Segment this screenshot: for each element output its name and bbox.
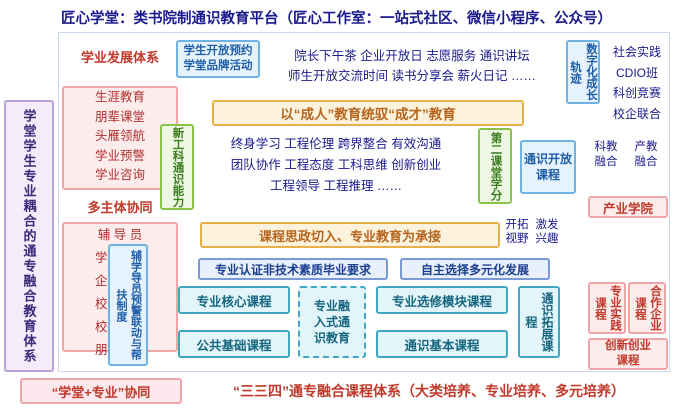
competency-word-grid: 终身学习 工程伦理 跨界整合 有效沟通 团队协作 工程态度 工科思维 创新创业 … bbox=[200, 134, 472, 210]
sizheng-banner: 课程思政切入、专业教育为承接 bbox=[200, 222, 500, 248]
chanjiao-ronghe-line1: 产教 bbox=[628, 140, 664, 155]
innovation-line2: 课程 bbox=[605, 354, 651, 369]
partner-enterprise-course-label: 合作企业课程 bbox=[632, 284, 662, 332]
xuetang-zhuanye-synergy-box: “学堂+专业”协同 bbox=[20, 378, 182, 404]
page-title: 匠心学堂：类书院制通识教育平台（匠心工作室：一站式社区、微信小程序、公众号） bbox=[0, 4, 673, 30]
chanjiao-ronghe-line2: 融合 bbox=[628, 155, 664, 170]
diagram-root: 匠心学堂：类书院制通识教育平台（匠心工作室：一站式社区、微信小程序、公众号） 学… bbox=[0, 0, 673, 410]
right-top-item: CDIO班 bbox=[604, 63, 670, 84]
student-brand-activity-box: 学生开放预约 学堂品牌活动 bbox=[176, 40, 260, 78]
industry-college-box: 产业学院 bbox=[588, 196, 668, 218]
elective-module-course-box: 专业选修模块课程 bbox=[376, 286, 508, 314]
competency-row: 工程领导 工程推理 …… bbox=[200, 176, 472, 197]
bottom-title: “三三四”通专融合课程体系（大类培养、专业培养、多元培养） bbox=[186, 378, 672, 404]
general-open-course-label: 通识开放课程 bbox=[522, 151, 574, 183]
digital-growth-track-label: 数字化成长轨迹 bbox=[567, 42, 599, 102]
second-classroom-credit-box: 第二课堂学分 bbox=[478, 128, 512, 204]
chanjiao-ronghe-label: 产教 融合 bbox=[628, 140, 664, 176]
kaituo-line1: 开拓 bbox=[502, 218, 532, 232]
keji-ronghe-line1: 科教 bbox=[588, 140, 624, 155]
chengren-banner: 以“成人”教育统驭“成才”教育 bbox=[212, 100, 524, 126]
rongru-line1: 专业融 bbox=[314, 298, 350, 314]
xueye-item: 生涯教育 bbox=[64, 88, 176, 108]
keji-ronghe-line2: 融合 bbox=[588, 155, 624, 170]
public-base-course-box: 公共基础课程 bbox=[178, 330, 290, 358]
right-top-item: 校企联合 bbox=[604, 104, 670, 125]
competency-row: 团队协作 工程态度 工科思维 创新创业 bbox=[200, 155, 472, 176]
digital-growth-track-box: 数字化成长轨迹 bbox=[566, 40, 600, 104]
general-open-course-box: 通识开放课程 bbox=[520, 140, 576, 194]
general-basic-course-box: 通识基本课程 bbox=[376, 330, 508, 358]
jifa-line2: 兴趣 bbox=[532, 232, 562, 246]
xingongke-label: 新工科通识能力 bbox=[170, 127, 185, 208]
accreditation-banner: 专业认证非技术素质毕业要求 bbox=[198, 258, 388, 280]
rongru-line3: 识教育 bbox=[314, 330, 350, 346]
integrated-general-education-box: 专业融 入式通 识教育 bbox=[298, 286, 366, 358]
xueye-heading: 学业发展体系 bbox=[62, 46, 178, 66]
brand-box-line1: 学生开放预约 bbox=[184, 44, 253, 59]
kaituo-line2: 视野 bbox=[502, 232, 532, 246]
kaituo-shiye-label: 开拓 视野 bbox=[502, 218, 532, 252]
professional-practice-course-label: 专业实践课程 bbox=[592, 284, 622, 332]
right-top-list: 社会实践 CDIO班 科创竞赛 校企联合 bbox=[604, 42, 670, 104]
second-classroom-credit-label: 第二课堂学分 bbox=[488, 132, 503, 201]
general-extension-course-label: 通识拓展课程 bbox=[523, 288, 555, 356]
counselor-warning-system-label: 辅学导员预警联动与帮扶制度 bbox=[114, 246, 143, 364]
activity-line-2: 师生开放交流时间 读书分享会 薪火日记 …… bbox=[262, 66, 562, 83]
competency-row: 终身学习 工程伦理 跨界整合 有效沟通 bbox=[200, 134, 472, 155]
counselor-warning-system-box: 辅学导员预警联动与帮扶制度 bbox=[108, 244, 148, 366]
right-top-item: 社会实践 bbox=[604, 42, 670, 63]
innovation-entrepreneurship-course-box: 创新创业 课程 bbox=[588, 338, 668, 370]
jifa-line1: 激发 bbox=[532, 218, 562, 232]
brand-box-line2: 学堂品牌活动 bbox=[184, 59, 253, 74]
left-vertical-bar-label: 学堂学生专业耦合的通专融合教育体系 bbox=[20, 109, 39, 364]
core-course-box: 专业核心课程 bbox=[178, 286, 290, 314]
rongru-line2: 入式通 bbox=[314, 314, 350, 330]
xueye-item: 朋辈课堂 bbox=[64, 108, 176, 128]
keji-ronghe-label: 科教 融合 bbox=[588, 140, 624, 176]
right-top-item: 科创竞赛 bbox=[604, 83, 670, 104]
partner-enterprise-course-box: 合作企业课程 bbox=[628, 282, 666, 334]
jifa-xingqu-label: 激发 兴趣 bbox=[532, 218, 562, 252]
activity-line-1: 院长下午茶 企业开放日 志愿服务 通识讲坛 bbox=[262, 46, 562, 63]
xingongke-box: 新工科通识能力 bbox=[160, 124, 194, 210]
innovation-line1: 创新创业 bbox=[605, 339, 651, 354]
left-vertical-bar: 学堂学生专业耦合的通专融合教育体系 bbox=[4, 100, 54, 372]
general-extension-course-box: 通识拓展课程 bbox=[518, 286, 560, 358]
professional-practice-course-box: 专业实践课程 bbox=[588, 282, 626, 334]
self-选择-banner: 自主选择多元化发展 bbox=[400, 258, 550, 280]
